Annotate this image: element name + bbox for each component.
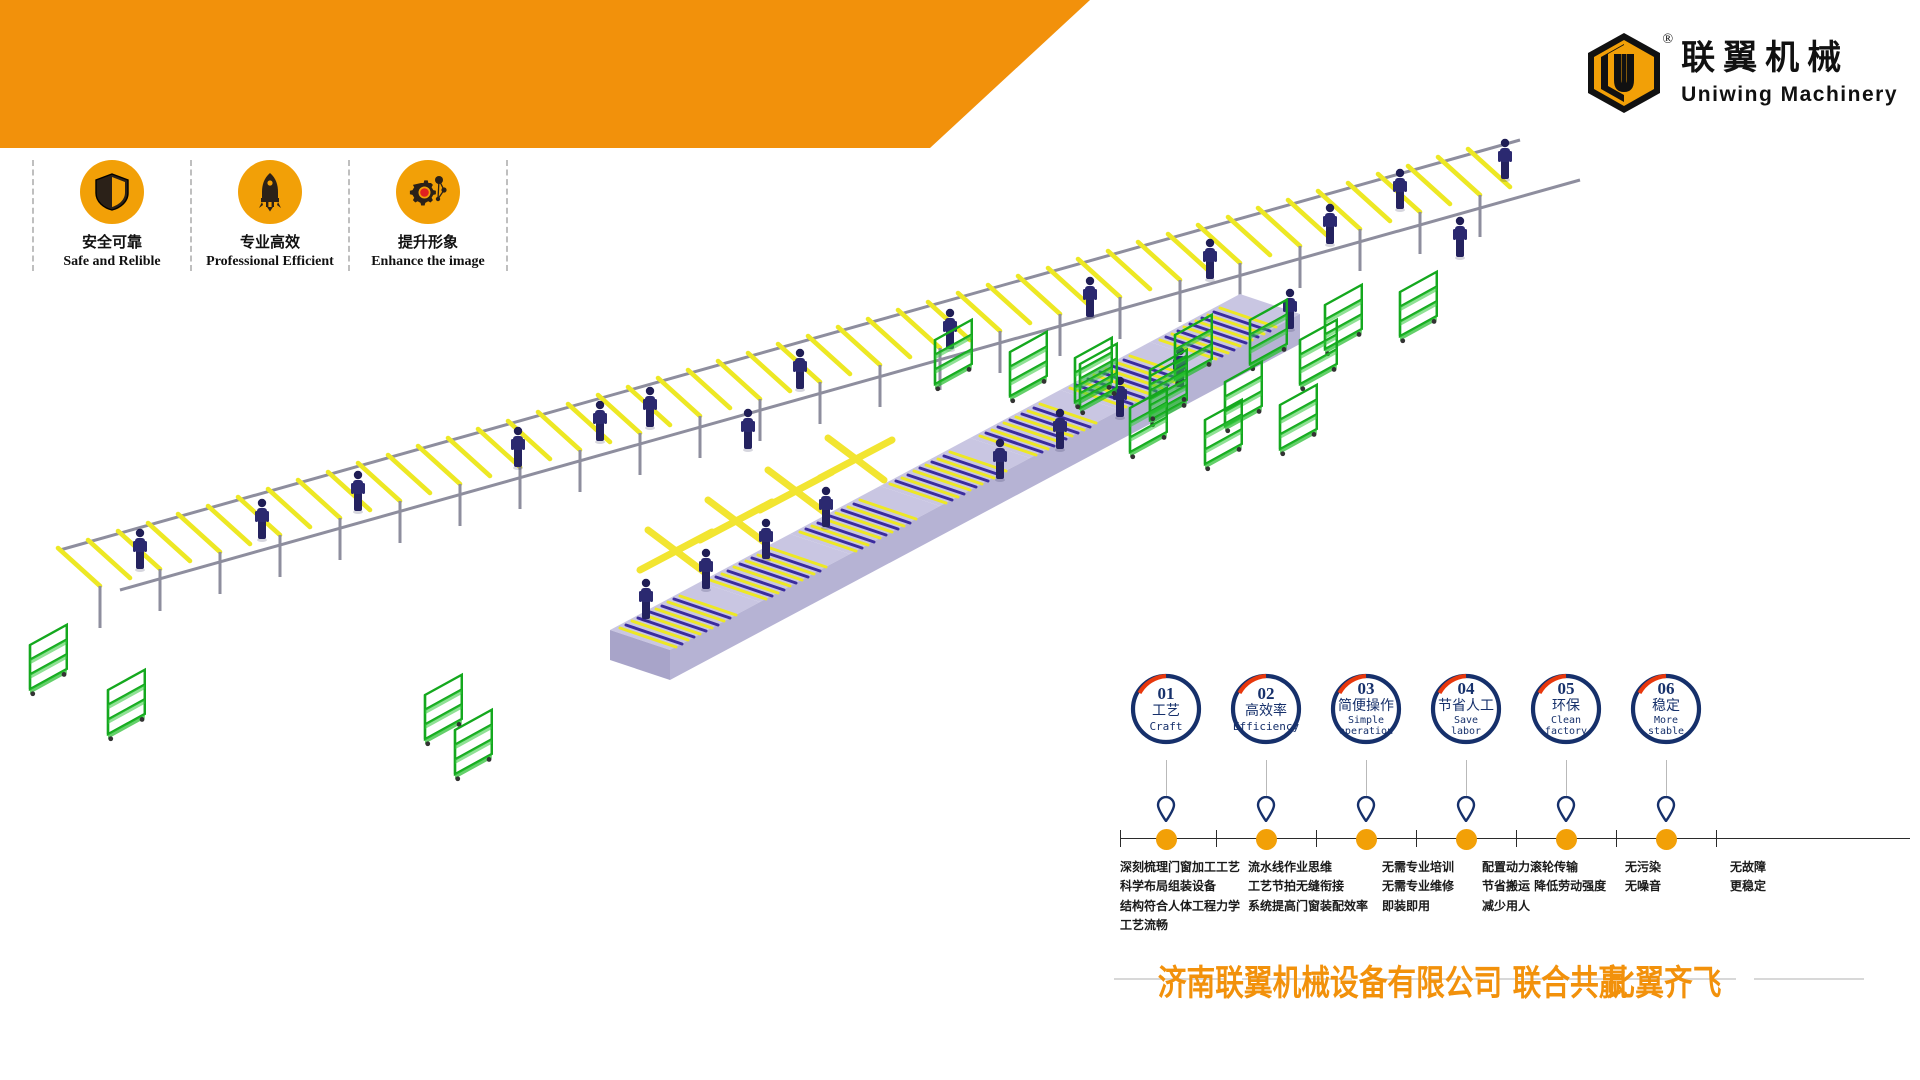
timeline-tick	[1316, 830, 1317, 847]
timeline-desc-03: 无需专业培训 无需专业维修 即装即用	[1382, 858, 1454, 916]
timeline-node-03[interactable]: 03 简便操作 Simple operation	[1320, 672, 1412, 746]
timeline-stem	[1466, 760, 1467, 798]
timeline-ring-03: 03 简便操作 Simple operation	[1329, 672, 1403, 746]
desc-line: 工艺节拍无缝衔接	[1248, 877, 1368, 896]
timeline-desc-04: 配置动力滚轮传输 节省搬运 降低劳动强度 减少用人	[1482, 858, 1606, 916]
timeline-label-en: Craft	[1149, 721, 1182, 733]
timeline-number: 05	[1558, 680, 1575, 697]
timeline-stem	[1166, 760, 1167, 798]
header-banner	[0, 0, 1090, 148]
feature-label-en: Safe and Relible	[63, 253, 160, 272]
timeline-label-en: Efficiency	[1233, 721, 1299, 733]
timeline-desc-01: 深刻梳理门窗加工工艺 科学布局组装设备 结构符合人体工程力学 工艺流畅	[1120, 858, 1240, 936]
desc-line: 无故障	[1730, 858, 1766, 877]
timeline-label-cn: 环保	[1552, 699, 1580, 715]
feature-item-safe: 安全可靠 Safe and Relible	[32, 160, 190, 271]
feature-label-cn: 专业高效	[240, 233, 300, 253]
map-pin-icon	[1156, 796, 1176, 822]
timeline-label-cn: 高效率	[1245, 704, 1287, 720]
timeline-label-cn: 简便操作	[1338, 699, 1394, 715]
desc-line: 系统提高门窗装配效率	[1248, 897, 1368, 916]
gear-settings-icon	[396, 160, 460, 224]
footer-slogan: 济南联翼机械设备有限公司 联合共赢 比翼齐飞	[1120, 955, 1920, 1006]
timeline-label-en-line1: Save	[1454, 716, 1478, 727]
feature-label-cn: 安全可靠	[82, 233, 142, 253]
map-pin-icon	[1456, 796, 1476, 822]
registered-trademark-mark: ®	[1663, 32, 1674, 48]
timeline-ring-04: 04 节省人工 Save labor	[1429, 672, 1503, 746]
timeline-tick	[1516, 830, 1517, 847]
brand-name-cn: 联翼机械	[1681, 41, 1898, 75]
desc-line: 深刻梳理门窗加工工艺	[1120, 858, 1240, 877]
shield-icon	[80, 160, 144, 224]
timeline-number: 03	[1358, 680, 1375, 697]
timeline-ring-06: 06 稳定 More stable	[1629, 672, 1703, 746]
desc-line: 科学布局组装设备	[1120, 877, 1240, 896]
desc-line: 即装即用	[1382, 897, 1454, 916]
timeline-tick	[1616, 830, 1617, 847]
timeline-axis	[1120, 838, 1910, 839]
feature-label-en: Professional Efficient	[206, 253, 334, 272]
timeline-dot	[1556, 829, 1577, 850]
desc-line: 无需专业维修	[1382, 877, 1454, 896]
benefits-timeline: 01 工艺 Craft 02 高效率 Efficiency	[1120, 672, 1910, 972]
timeline-number: 02	[1258, 685, 1275, 702]
feature-item-image: 提升形象 Enhance the image	[348, 160, 508, 271]
desc-line: 无污染	[1625, 858, 1661, 877]
timeline-ring-01: 01 工艺 Craft	[1129, 672, 1203, 746]
timeline-label-en-line1: More	[1654, 716, 1678, 727]
timeline-stem	[1366, 760, 1367, 798]
timeline-tick	[1716, 830, 1717, 847]
desc-line: 无需专业培训	[1382, 858, 1454, 877]
timeline-number: 04	[1458, 680, 1475, 697]
brand-logo-text: 联翼机械 Uniwing Machinery	[1681, 41, 1898, 105]
timeline-node-05[interactable]: 05 环保 Clean factory	[1520, 672, 1612, 746]
feature-item-efficient: 专业高效 Professional Efficient	[190, 160, 348, 271]
brand-name-en: Uniwing Machinery	[1681, 84, 1898, 105]
timeline-number: 06	[1658, 680, 1675, 697]
feature-label-cn: 提升形象	[398, 233, 458, 253]
desc-line: 节省搬运 降低劳动强度	[1482, 877, 1606, 896]
timeline-label-en-line2: labor	[1451, 727, 1481, 738]
timeline-dot	[1356, 829, 1377, 850]
timeline-desc-05: 无污染 无噪音	[1625, 858, 1661, 897]
map-pin-icon	[1256, 796, 1276, 822]
timeline-stem	[1566, 760, 1567, 798]
timeline-label-en-line2: operation	[1339, 727, 1393, 738]
desc-line: 无噪音	[1625, 877, 1661, 896]
hexagon-u-logo-icon: ®	[1581, 30, 1667, 116]
timeline-label-cn: 稳定	[1652, 699, 1680, 715]
timeline-node-06[interactable]: 06 稳定 More stable	[1620, 672, 1712, 746]
timeline-number: 01	[1158, 685, 1175, 702]
feature-label-en: Enhance the image	[371, 253, 485, 272]
timeline-ring-05: 05 环保 Clean factory	[1529, 672, 1603, 746]
timeline-label-en-line1: Simple	[1348, 716, 1384, 727]
timeline-ring-02: 02 高效率 Efficiency	[1229, 672, 1303, 746]
timeline-node-01[interactable]: 01 工艺 Craft	[1120, 672, 1212, 746]
timeline-label-en-line1: Clean	[1551, 716, 1581, 727]
timeline-label-cn: 节省人工	[1438, 699, 1494, 715]
company-name: 济南联翼机械设备有限公司	[1158, 955, 1502, 1006]
desc-line: 更稳定	[1730, 877, 1766, 896]
rocket-icon	[238, 160, 302, 224]
feature-strip: 安全可靠 Safe and Relible 专业高效 Professional …	[32, 160, 508, 271]
timeline-label-en-line2: factory	[1545, 727, 1587, 738]
timeline-dot	[1656, 829, 1677, 850]
map-pin-icon	[1356, 796, 1376, 822]
map-pin-icon	[1656, 796, 1676, 822]
desc-line: 流水线作业思维	[1248, 858, 1368, 877]
timeline-tick	[1216, 830, 1217, 847]
desc-line: 减少用人	[1482, 897, 1606, 916]
timeline-tick	[1120, 830, 1121, 847]
timeline-label-cn: 工艺	[1152, 704, 1180, 720]
timeline-stem	[1266, 760, 1267, 798]
desc-line: 工艺流畅	[1120, 916, 1240, 935]
timeline-dot	[1456, 829, 1477, 850]
brand-logo: ® 联翼机械 Uniwing Machinery	[1581, 28, 1898, 118]
timeline-desc-06: 无故障 更稳定	[1730, 858, 1766, 897]
timeline-circles: 01 工艺 Craft 02 高效率 Efficiency	[1120, 672, 1910, 760]
timeline-label-en-line2: stable	[1648, 727, 1684, 738]
slogan-part-2: 比翼齐飞	[1607, 955, 1722, 1006]
timeline-node-04[interactable]: 04 节省人工 Save labor	[1420, 672, 1512, 746]
timeline-stem	[1666, 760, 1667, 798]
desc-line: 结构符合人体工程力学	[1120, 897, 1240, 916]
timeline-dot	[1156, 829, 1177, 850]
map-pin-icon	[1556, 796, 1576, 822]
desc-line: 配置动力滚轮传输	[1482, 858, 1606, 877]
timeline-node-02[interactable]: 02 高效率 Efficiency	[1220, 672, 1312, 746]
timeline-dot	[1256, 829, 1277, 850]
timeline-tick	[1416, 830, 1417, 847]
timeline-desc-02: 流水线作业思维 工艺节拍无缝衔接 系统提高门窗装配效率	[1248, 858, 1368, 916]
